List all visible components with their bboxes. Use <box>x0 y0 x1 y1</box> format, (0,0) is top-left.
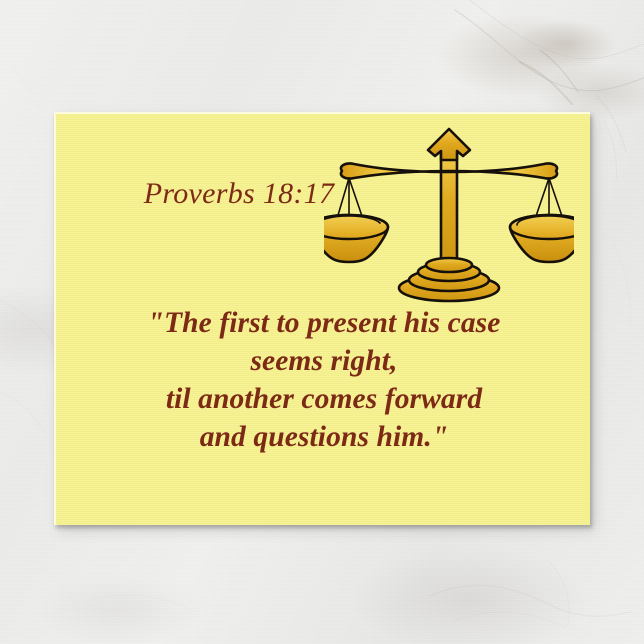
postcard-scene: Proverbs 18:17 <box>0 0 644 644</box>
quote-line-3: til another comes forward <box>56 380 592 418</box>
quote-line-4: and questions him." <box>56 418 592 456</box>
right-pan <box>510 215 574 262</box>
tiered-base <box>399 258 499 301</box>
center-post <box>441 151 457 264</box>
left-pan <box>324 215 388 262</box>
arrow-finial-icon <box>428 129 470 160</box>
scales-of-justice-graphic <box>324 126 574 304</box>
quote-text: "The first to present his case seems rig… <box>56 304 592 456</box>
quote-line-2: seems right, <box>56 342 592 380</box>
quote-line-1: "The first to present his case <box>56 304 592 342</box>
postcard-card: Proverbs 18:17 <box>54 112 590 525</box>
